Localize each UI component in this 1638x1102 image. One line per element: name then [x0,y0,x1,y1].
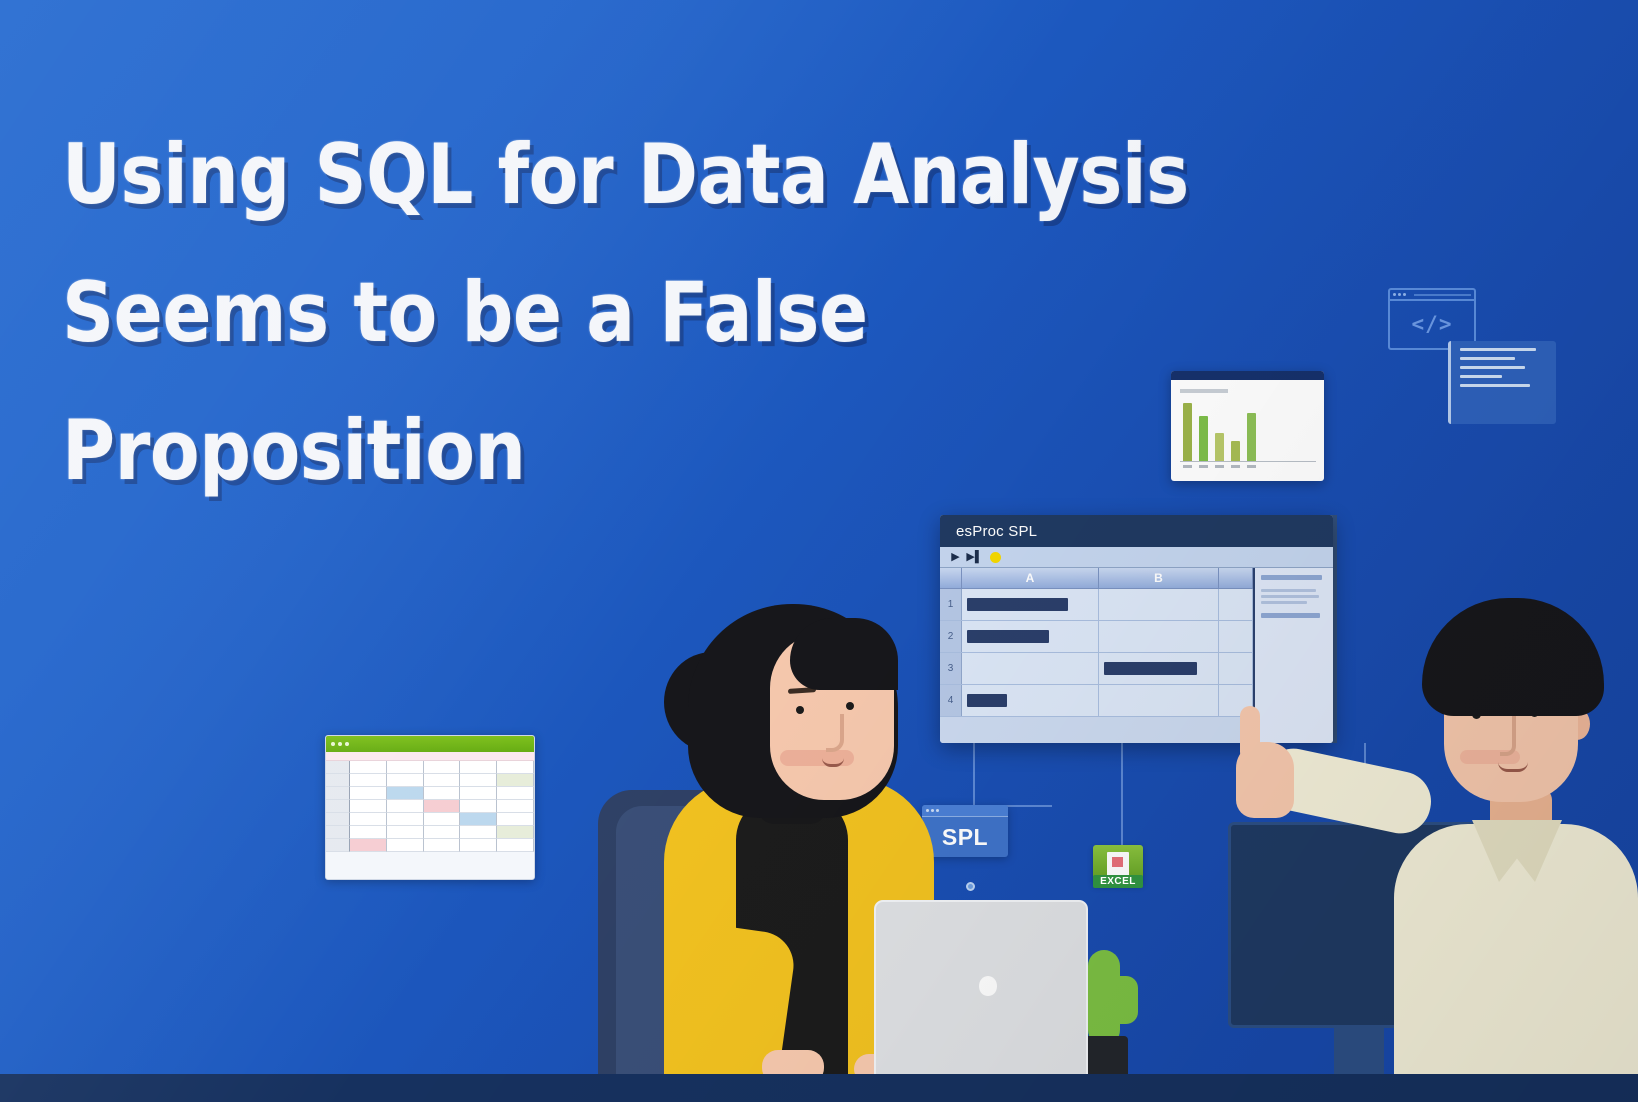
esproc-cell-a[interactable] [962,621,1099,652]
bar-chart-bar [1215,433,1224,461]
play-icon[interactable]: ▶ [948,550,963,564]
spreadsheet-cell[interactable] [497,839,534,852]
esproc-corner-cell [940,568,962,588]
excel-icon-label: EXCEL [1093,875,1143,888]
laptop[interactable] [862,900,1098,1102]
esproc-property-panel[interactable] [1253,568,1333,743]
spreadsheet-cell[interactable] [350,761,387,774]
esproc-column-header-row: A B [940,568,1253,589]
bar-chart-tick-label [1231,465,1240,468]
property-group [1261,589,1327,604]
property-group [1261,613,1327,618]
esproc-cell-c[interactable] [1219,653,1253,684]
man-hair [1422,598,1604,716]
spreadsheet-titlebar [326,736,534,752]
code-panel[interactable] [1448,341,1556,424]
esproc-row[interactable]: 4 [940,685,1253,717]
esproc-cell-b[interactable] [1099,621,1219,652]
spreadsheet-cell[interactable] [497,787,534,800]
window-dot-icon [1393,293,1396,296]
eye [846,702,854,710]
cell-content-bar [1104,662,1197,675]
window-dot-icon [1403,293,1406,296]
spreadsheet-cell[interactable] [424,800,461,813]
spreadsheet-cell[interactable] [387,839,424,852]
laptop-lid [874,900,1088,1076]
spreadsheet-cell[interactable] [350,813,387,826]
spreadsheet-cell[interactable] [497,826,534,839]
esproc-cell-c[interactable] [1219,621,1253,652]
bar-chart-tick-label [1183,465,1192,468]
spreadsheet-cell[interactable] [424,839,461,852]
bar-chart-plot [1180,396,1316,462]
apple-logo-icon [979,976,997,996]
bar-chart-bar [1183,403,1192,461]
esproc-row[interactable]: 1 [940,589,1253,621]
code-line [1460,375,1502,378]
nose [1500,716,1516,756]
esproc-cell-a[interactable] [962,653,1099,684]
spreadsheet-row-header[interactable] [326,826,350,839]
connector-line-vertical-left [973,743,975,805]
spreadsheet-cell[interactable] [460,813,497,826]
spreadsheet-cell[interactable] [424,826,461,839]
spreadsheet-cell[interactable] [460,761,497,774]
page-title-line-2: Seems to be a False [62,244,1275,382]
spreadsheet-cell[interactable] [350,787,387,800]
window-dot-icon [345,742,349,746]
cell-content-bar [967,630,1049,643]
poster-canvas: Using SQL for Data Analysis Seems to be … [0,0,1638,1102]
connector-line-vertical-mid [1121,743,1123,845]
esproc-cell-b[interactable] [1099,685,1219,716]
esproc-column-header-b[interactable]: B [1099,568,1219,588]
code-window-titlebar [1390,290,1474,301]
spreadsheet-cell[interactable] [497,774,534,787]
spreadsheet-cell[interactable] [387,774,424,787]
window-dot-icon [1398,293,1401,296]
esproc-cell-a[interactable] [962,685,1099,716]
spreadsheet-row-header[interactable] [326,774,350,787]
mouth [1498,762,1528,772]
yellow-status-dot-icon [990,552,1001,563]
spreadsheet-cell[interactable] [387,813,424,826]
esproc-titlebar: esProc SPL [940,515,1333,547]
chart-body [1171,380,1324,481]
spreadsheet-grid[interactable] [326,761,534,852]
esproc-row[interactable]: 2 [940,621,1253,653]
esproc-window-title: esProc SPL [956,523,1037,540]
spreadsheet-cell[interactable] [460,787,497,800]
spreadsheet-row-header[interactable] [326,787,350,800]
window-dot-icon [331,742,335,746]
bar-chart-bar [1231,441,1240,461]
esproc-cell-c[interactable] [1219,589,1253,620]
page-title-line-3: Proposition [62,382,1275,520]
page-title-line-1: Using SQL for Data Analysis [62,106,1275,244]
property-row [1261,613,1320,618]
spreadsheet-cell[interactable] [350,774,387,787]
chart-window[interactable] [1171,371,1324,481]
property-row [1261,575,1322,580]
esproc-column-header-c[interactable] [1219,568,1253,588]
step-forward-icon[interactable]: ▶▌ [967,550,982,564]
bar-chart-bar [1247,413,1256,461]
code-line [1460,366,1525,369]
spreadsheet-cell[interactable] [424,813,461,826]
esproc-cell-b[interactable] [1099,653,1219,684]
property-group [1261,575,1327,580]
chart-titlebar [1171,371,1324,380]
esproc-column-header-a[interactable]: A [962,568,1099,588]
code-line [1460,357,1515,360]
eye [796,706,804,714]
esproc-cell-b[interactable] [1099,589,1219,620]
man-shirt [1394,824,1638,1102]
esproc-toolbar[interactable]: ▶ ▶▌ [940,547,1333,568]
esproc-row[interactable]: 3 [940,653,1253,685]
esproc-spl-window[interactable]: esProc SPL ▶ ▶▌ A B 1234 [940,515,1333,743]
spreadsheet-cell[interactable] [350,839,387,852]
spreadsheet-cell[interactable] [424,774,461,787]
code-line [1460,348,1536,351]
nose [826,714,844,752]
woman-hair-front [790,618,898,690]
spreadsheet-cell[interactable] [460,839,497,852]
bar-chart-tick-label [1247,465,1256,468]
bar-chart-bar [1199,416,1208,461]
spreadsheet-cell[interactable] [350,826,387,839]
property-row [1261,589,1316,592]
bar-chart-x-axis-labels [1180,465,1316,468]
spreadsheet-cell[interactable] [497,761,534,774]
bar-chart-tick-label [1215,465,1224,468]
spreadsheet-cell[interactable] [460,826,497,839]
monitor-stand [1334,1028,1384,1078]
pointing-finger [1240,706,1260,762]
spreadsheet-cell[interactable] [387,800,424,813]
spreadsheet-cell[interactable] [387,761,424,774]
spreadsheet-window[interactable] [325,735,535,880]
property-row [1261,595,1319,598]
spreadsheet-cell[interactable] [387,787,424,800]
property-row [1261,601,1307,604]
spreadsheet-cell[interactable] [424,787,461,800]
spreadsheet-row-header[interactable] [326,800,350,813]
chart-title-placeholder [1180,389,1228,393]
page-title: Using SQL for Data Analysis Seems to be … [62,106,1275,520]
spreadsheet-cell[interactable] [387,826,424,839]
excel-icon[interactable]: EXCEL [1093,845,1143,897]
code-window-title-placeholder [1414,294,1471,296]
spreadsheet-row-header[interactable] [326,813,350,826]
spreadsheet-row-header[interactable] [326,761,350,774]
spreadsheet-cell[interactable] [460,774,497,787]
spreadsheet-cell[interactable] [424,761,461,774]
esproc-rows[interactable]: 1234 [940,589,1253,717]
spreadsheet-cell[interactable] [460,800,497,813]
spreadsheet-cell[interactable] [350,800,387,813]
spreadsheet-formula-bar [326,752,534,761]
man-character [1388,592,1638,1102]
esproc-cell-a[interactable] [962,589,1099,620]
cell-content-bar [967,694,1007,707]
spreadsheet-cell[interactable] [497,813,534,826]
cell-content-bar [967,598,1068,611]
spreadsheet-row-header[interactable] [326,839,350,852]
spreadsheet-cell[interactable] [497,800,534,813]
window-dot-icon [338,742,342,746]
code-line [1460,384,1530,387]
bar-chart-tick-label [1199,465,1208,468]
esproc-sheet-area[interactable]: A B 1234 [940,568,1253,743]
desk-surface [0,1074,1638,1102]
esproc-main: A B 1234 [940,568,1333,743]
